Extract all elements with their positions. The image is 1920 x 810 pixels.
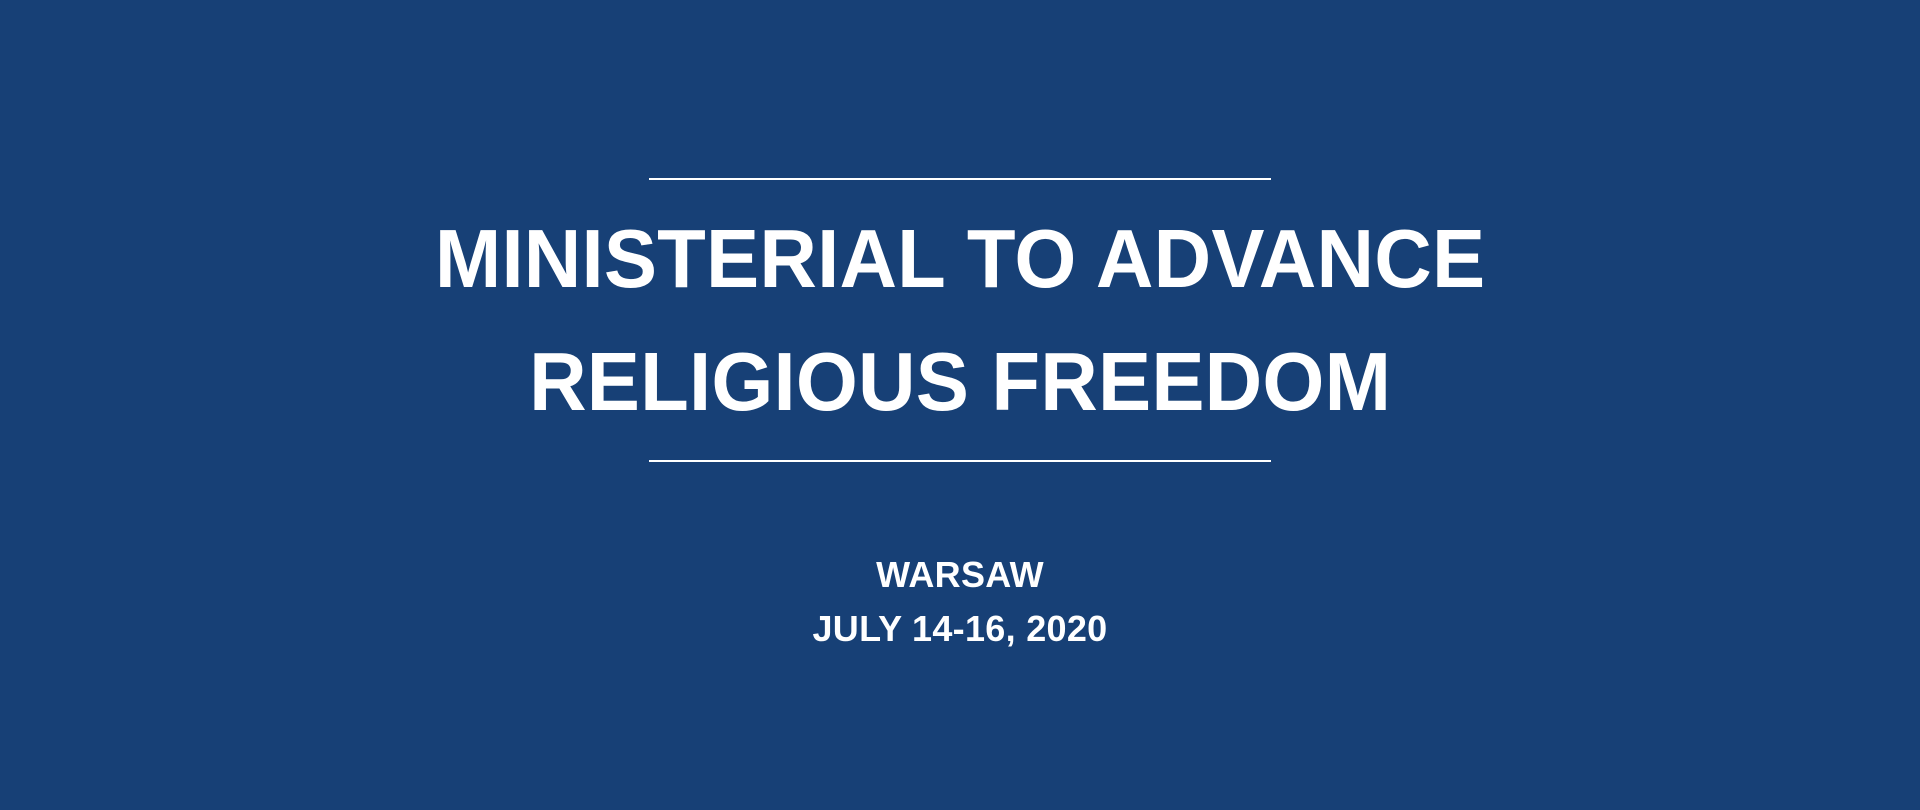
event-dates: JULY 14-16, 2020	[0, 602, 1920, 656]
divider-rule-bottom	[649, 460, 1271, 462]
title-line-2: RELIGIOUS FREEDOM	[435, 321, 1485, 444]
title-line-1: MINISTERIAL TO ADVANCE	[435, 198, 1485, 321]
divider-rule-top	[649, 178, 1271, 180]
title-slide: MINISTERIAL TO ADVANCE RELIGIOUS FREEDOM…	[0, 0, 1920, 810]
page-title: MINISTERIAL TO ADVANCE RELIGIOUS FREEDOM	[435, 198, 1485, 444]
subtitle-block: WARSAW JULY 14-16, 2020	[0, 548, 1920, 657]
event-location: WARSAW	[0, 548, 1920, 602]
title-block: MINISTERIAL TO ADVANCE RELIGIOUS FREEDOM	[0, 178, 1920, 462]
